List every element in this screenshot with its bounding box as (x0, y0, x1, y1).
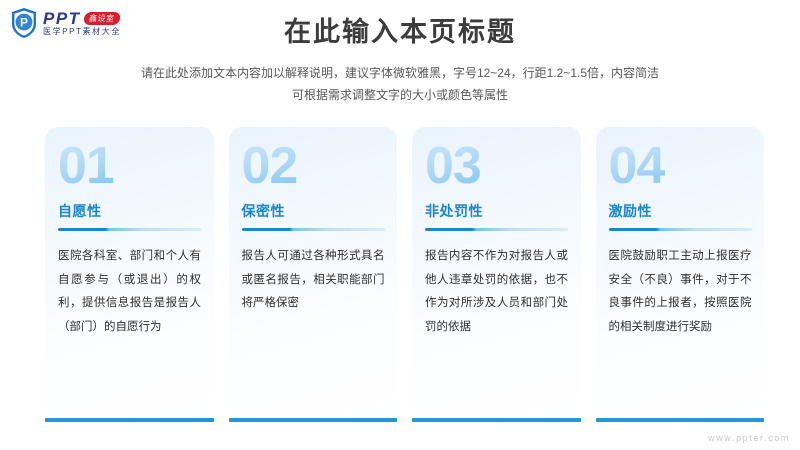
card-item[interactable]: 04 激励性 医院鼓励职工主动上报医疗安全（不良）事件，对于不良事件的上报者，按… (596, 127, 765, 422)
card-item[interactable]: 01 自愿性 医院各科室、部门和个人有自愿参与（或退出）的权利，提供信息报告是报… (45, 127, 214, 422)
card-body-text: 报告人可通过各种形式具名或匿名报告，相关职能部门将严格保密 (242, 245, 385, 316)
page-subtitle-line-1: 请在此处添加文本内容加以解释说明，建议字体微软雅黑，字号12~24，行距1.2~… (0, 62, 800, 84)
card-number: 03 (425, 140, 573, 192)
card-body-text: 医院各科室、部门和个人有自愿参与（或退出）的权利，提供信息报告是报告人（部门）的… (58, 245, 201, 339)
card-bottom-accent-bar (229, 418, 398, 422)
watermark: www.ppter.com (708, 433, 790, 443)
card-divider (425, 228, 568, 231)
card-item[interactable]: 02 保密性 报告人可通过各种形式具名或匿名报告，相关职能部门将严格保密 (229, 127, 398, 422)
card-bottom-accent-bar (412, 418, 581, 422)
card-divider (242, 228, 385, 231)
page-subtitle-line-2: 可根据需求调整文字的大小或颜色等属性 (0, 84, 800, 106)
card-number: 04 (609, 140, 757, 192)
card-content: 01 自愿性 医院各科室、部门和个人有自愿参与（或退出）的权利，提供信息报告是报… (58, 127, 206, 422)
page-title: 在此输入本页标题 (0, 16, 800, 48)
card-number: 02 (242, 140, 390, 192)
card-heading: 非处罚性 (425, 204, 573, 218)
card-heading: 自愿性 (58, 204, 206, 218)
page-subtitle: 请在此处添加文本内容加以解释说明，建议字体微软雅黑，字号12~24，行距1.2~… (0, 62, 800, 106)
card-number: 01 (58, 140, 206, 192)
card-content: 04 激励性 医院鼓励职工主动上报医疗安全（不良）事件，对于不良事件的上报者，按… (609, 127, 757, 422)
card-item[interactable]: 03 非处罚性 报告内容不作为对报告人或他人违章处罚的依据，也不作为对所涉及人员… (412, 127, 581, 422)
card-body-text: 报告内容不作为对报告人或他人违章处罚的依据，也不作为对所涉及人员和部门处罚的依据 (425, 245, 568, 339)
card-heading: 保密性 (242, 204, 390, 218)
card-divider (58, 228, 201, 231)
card-bottom-accent-bar (45, 418, 214, 422)
card-list: 01 自愿性 医院各科室、部门和个人有自愿参与（或退出）的权利，提供信息报告是报… (45, 127, 755, 422)
card-content: 02 保密性 报告人可通过各种形式具名或匿名报告，相关职能部门将严格保密 (242, 127, 390, 422)
card-body-text: 医院鼓励职工主动上报医疗安全（不良）事件，对于不良事件的上报者，按照医院的相关制… (609, 245, 752, 339)
card-divider (609, 228, 752, 231)
card-bottom-accent-bar (596, 418, 765, 422)
card-heading: 激励性 (609, 204, 757, 218)
card-content: 03 非处罚性 报告内容不作为对报告人或他人违章处罚的依据，也不作为对所涉及人员… (425, 127, 573, 422)
